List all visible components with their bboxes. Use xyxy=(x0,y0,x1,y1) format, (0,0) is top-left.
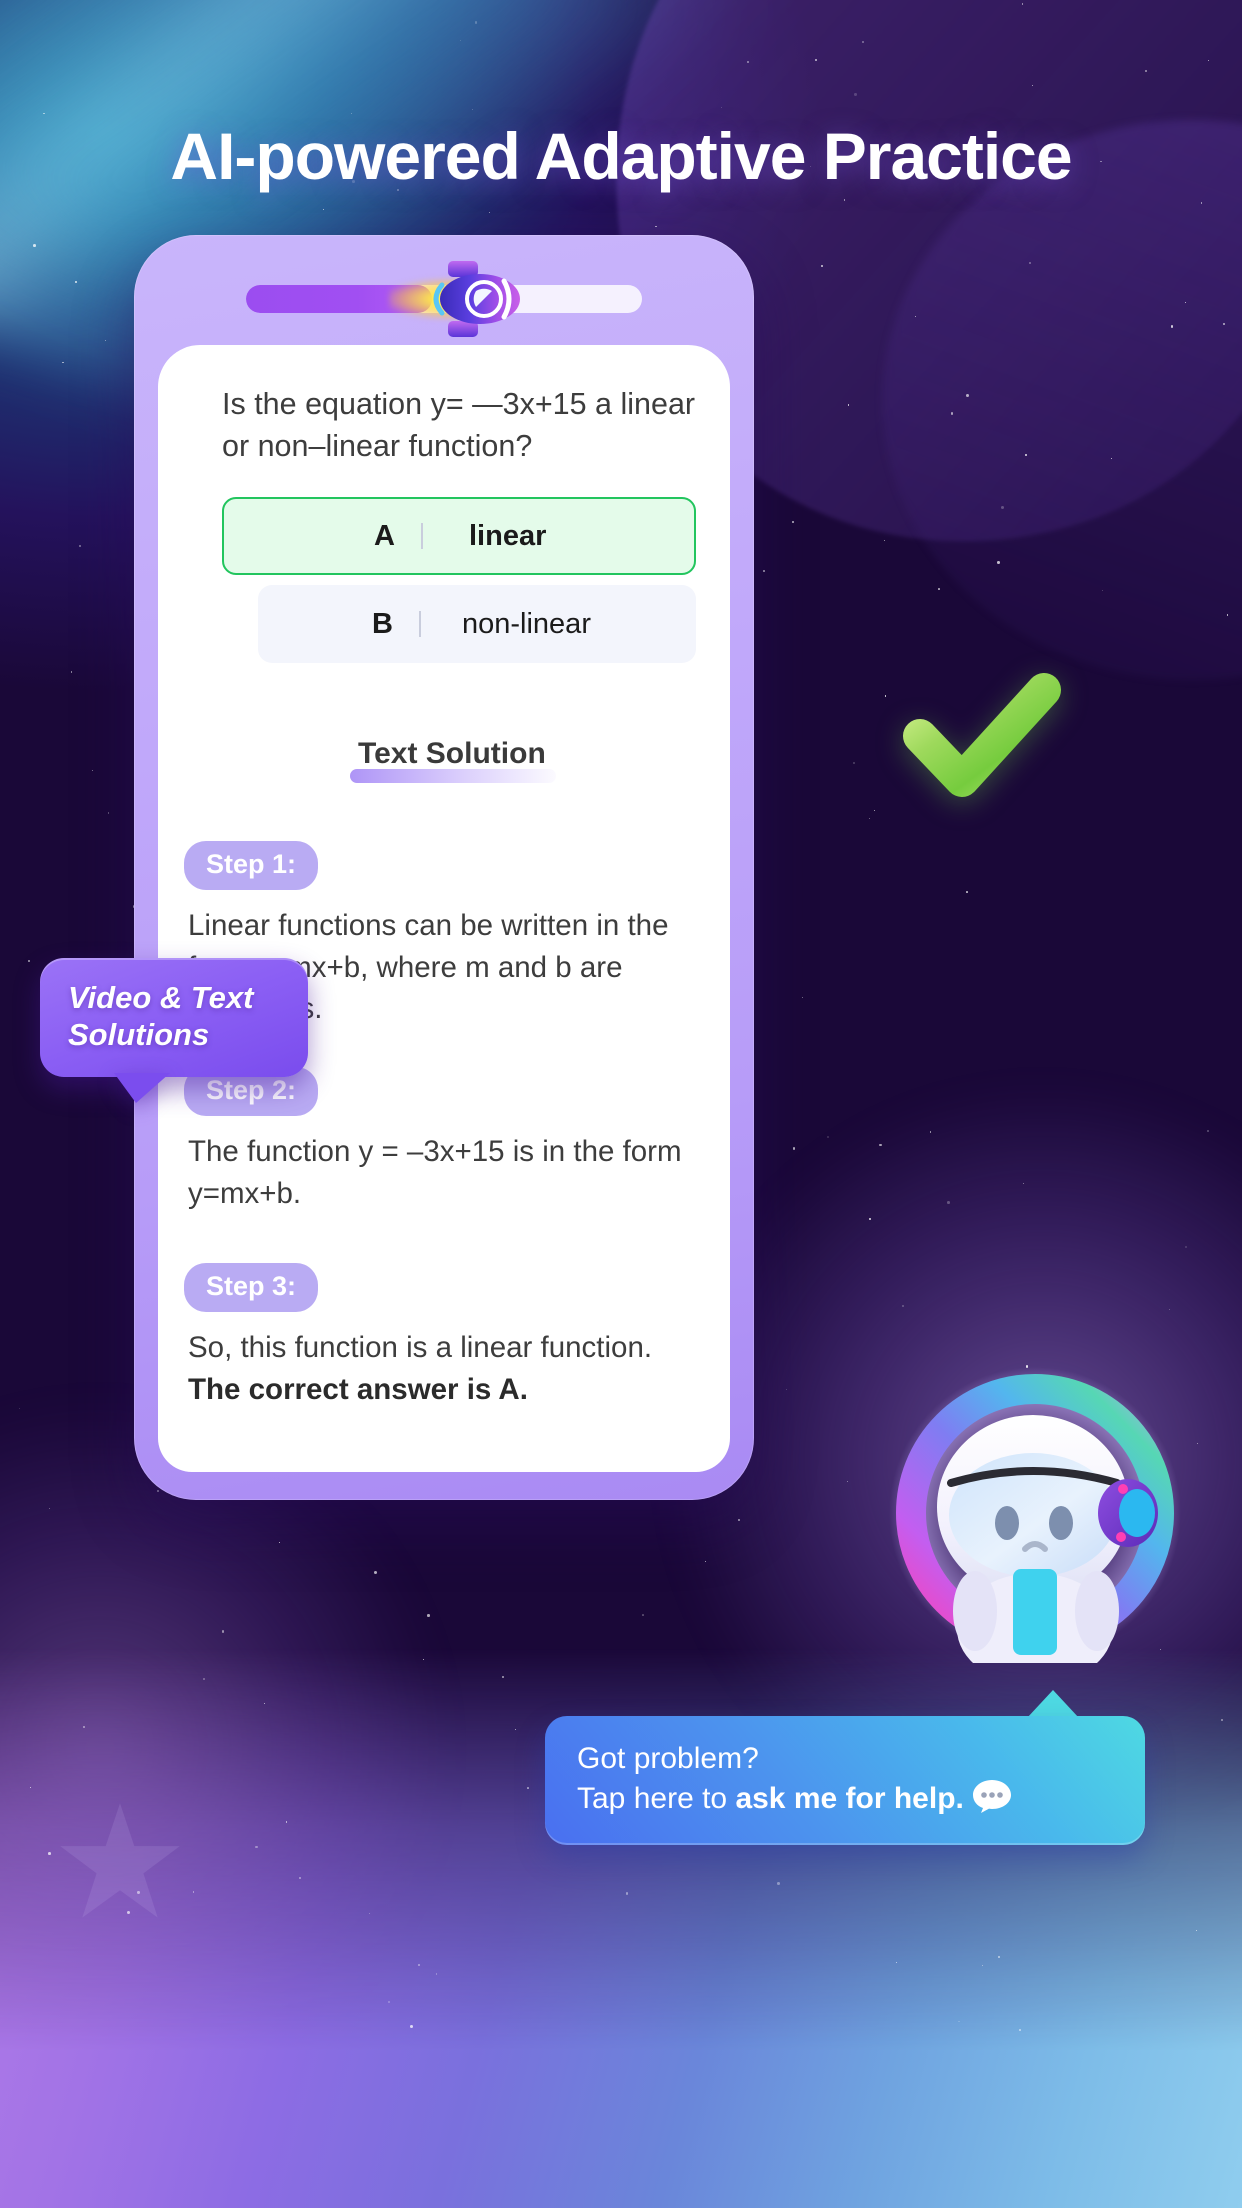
chat-helper-callout[interactable]: Got problem? Tap here to ask me for help… xyxy=(545,1716,1145,1845)
page-title: AI-powered Adaptive Practice xyxy=(0,118,1242,194)
option-a-value: linear xyxy=(469,520,546,553)
answer-option-b[interactable]: B non-linear xyxy=(258,585,696,663)
chat-dots-icon xyxy=(972,1778,1012,1814)
chat-bubble-tail xyxy=(1027,1690,1079,1718)
rocket-icon xyxy=(428,257,524,341)
step-3-body-plain: So, this function is a linear function. xyxy=(188,1331,652,1364)
chat-helper-box: Got problem? Tap here to ask me for help… xyxy=(545,1716,1145,1845)
video-text-solutions-box: Video & Text Solutions xyxy=(40,958,308,1077)
question-card: Is the equation y= —3x+15 a linear or no… xyxy=(158,345,730,1472)
ai-robot-avatar[interactable] xyxy=(885,1363,1185,1663)
question-text: Is the equation y= —3x+15 a linear or no… xyxy=(222,383,698,467)
video-text-solutions-callout[interactable]: Video & Text Solutions xyxy=(40,958,308,1077)
chat-line-1: Got problem? xyxy=(577,1740,1115,1778)
chat-line-2-bold: ask me for help. xyxy=(735,1782,963,1815)
progress-bar[interactable] xyxy=(246,285,642,313)
step-3-body-bold: The correct answer is A. xyxy=(188,1373,528,1406)
option-b-divider xyxy=(419,611,421,637)
vts-line-2: Solutions xyxy=(68,1017,286,1054)
option-a-letter: A xyxy=(374,520,395,553)
option-a-divider xyxy=(421,523,423,549)
step-2-body: The function y = –3x+15 is in the form y… xyxy=(188,1131,683,1214)
chat-line-2-plain: Tap here to xyxy=(577,1782,735,1815)
text-solution-highlight xyxy=(350,769,556,783)
option-b-letter: B xyxy=(372,608,393,641)
phone-mockup: Is the equation y= —3x+15 a linear or no… xyxy=(134,235,754,1500)
decorative-star-icon xyxy=(55,1798,185,1928)
option-b-value: non-linear xyxy=(462,608,591,641)
step-3-badge: Step 3: xyxy=(184,1263,318,1312)
step-1-badge: Step 1: xyxy=(184,841,318,890)
text-solution-heading: Text Solution xyxy=(358,737,546,771)
step-3-body: So, this function is a linear function. … xyxy=(188,1327,683,1410)
answer-option-a[interactable]: A linear xyxy=(222,497,696,575)
chat-line-2: Tap here to ask me for help. xyxy=(577,1778,1115,1818)
vts-line-1: Video & Text xyxy=(68,980,286,1017)
green-checkmark-icon xyxy=(898,664,1066,814)
vts-tail xyxy=(114,1073,170,1103)
